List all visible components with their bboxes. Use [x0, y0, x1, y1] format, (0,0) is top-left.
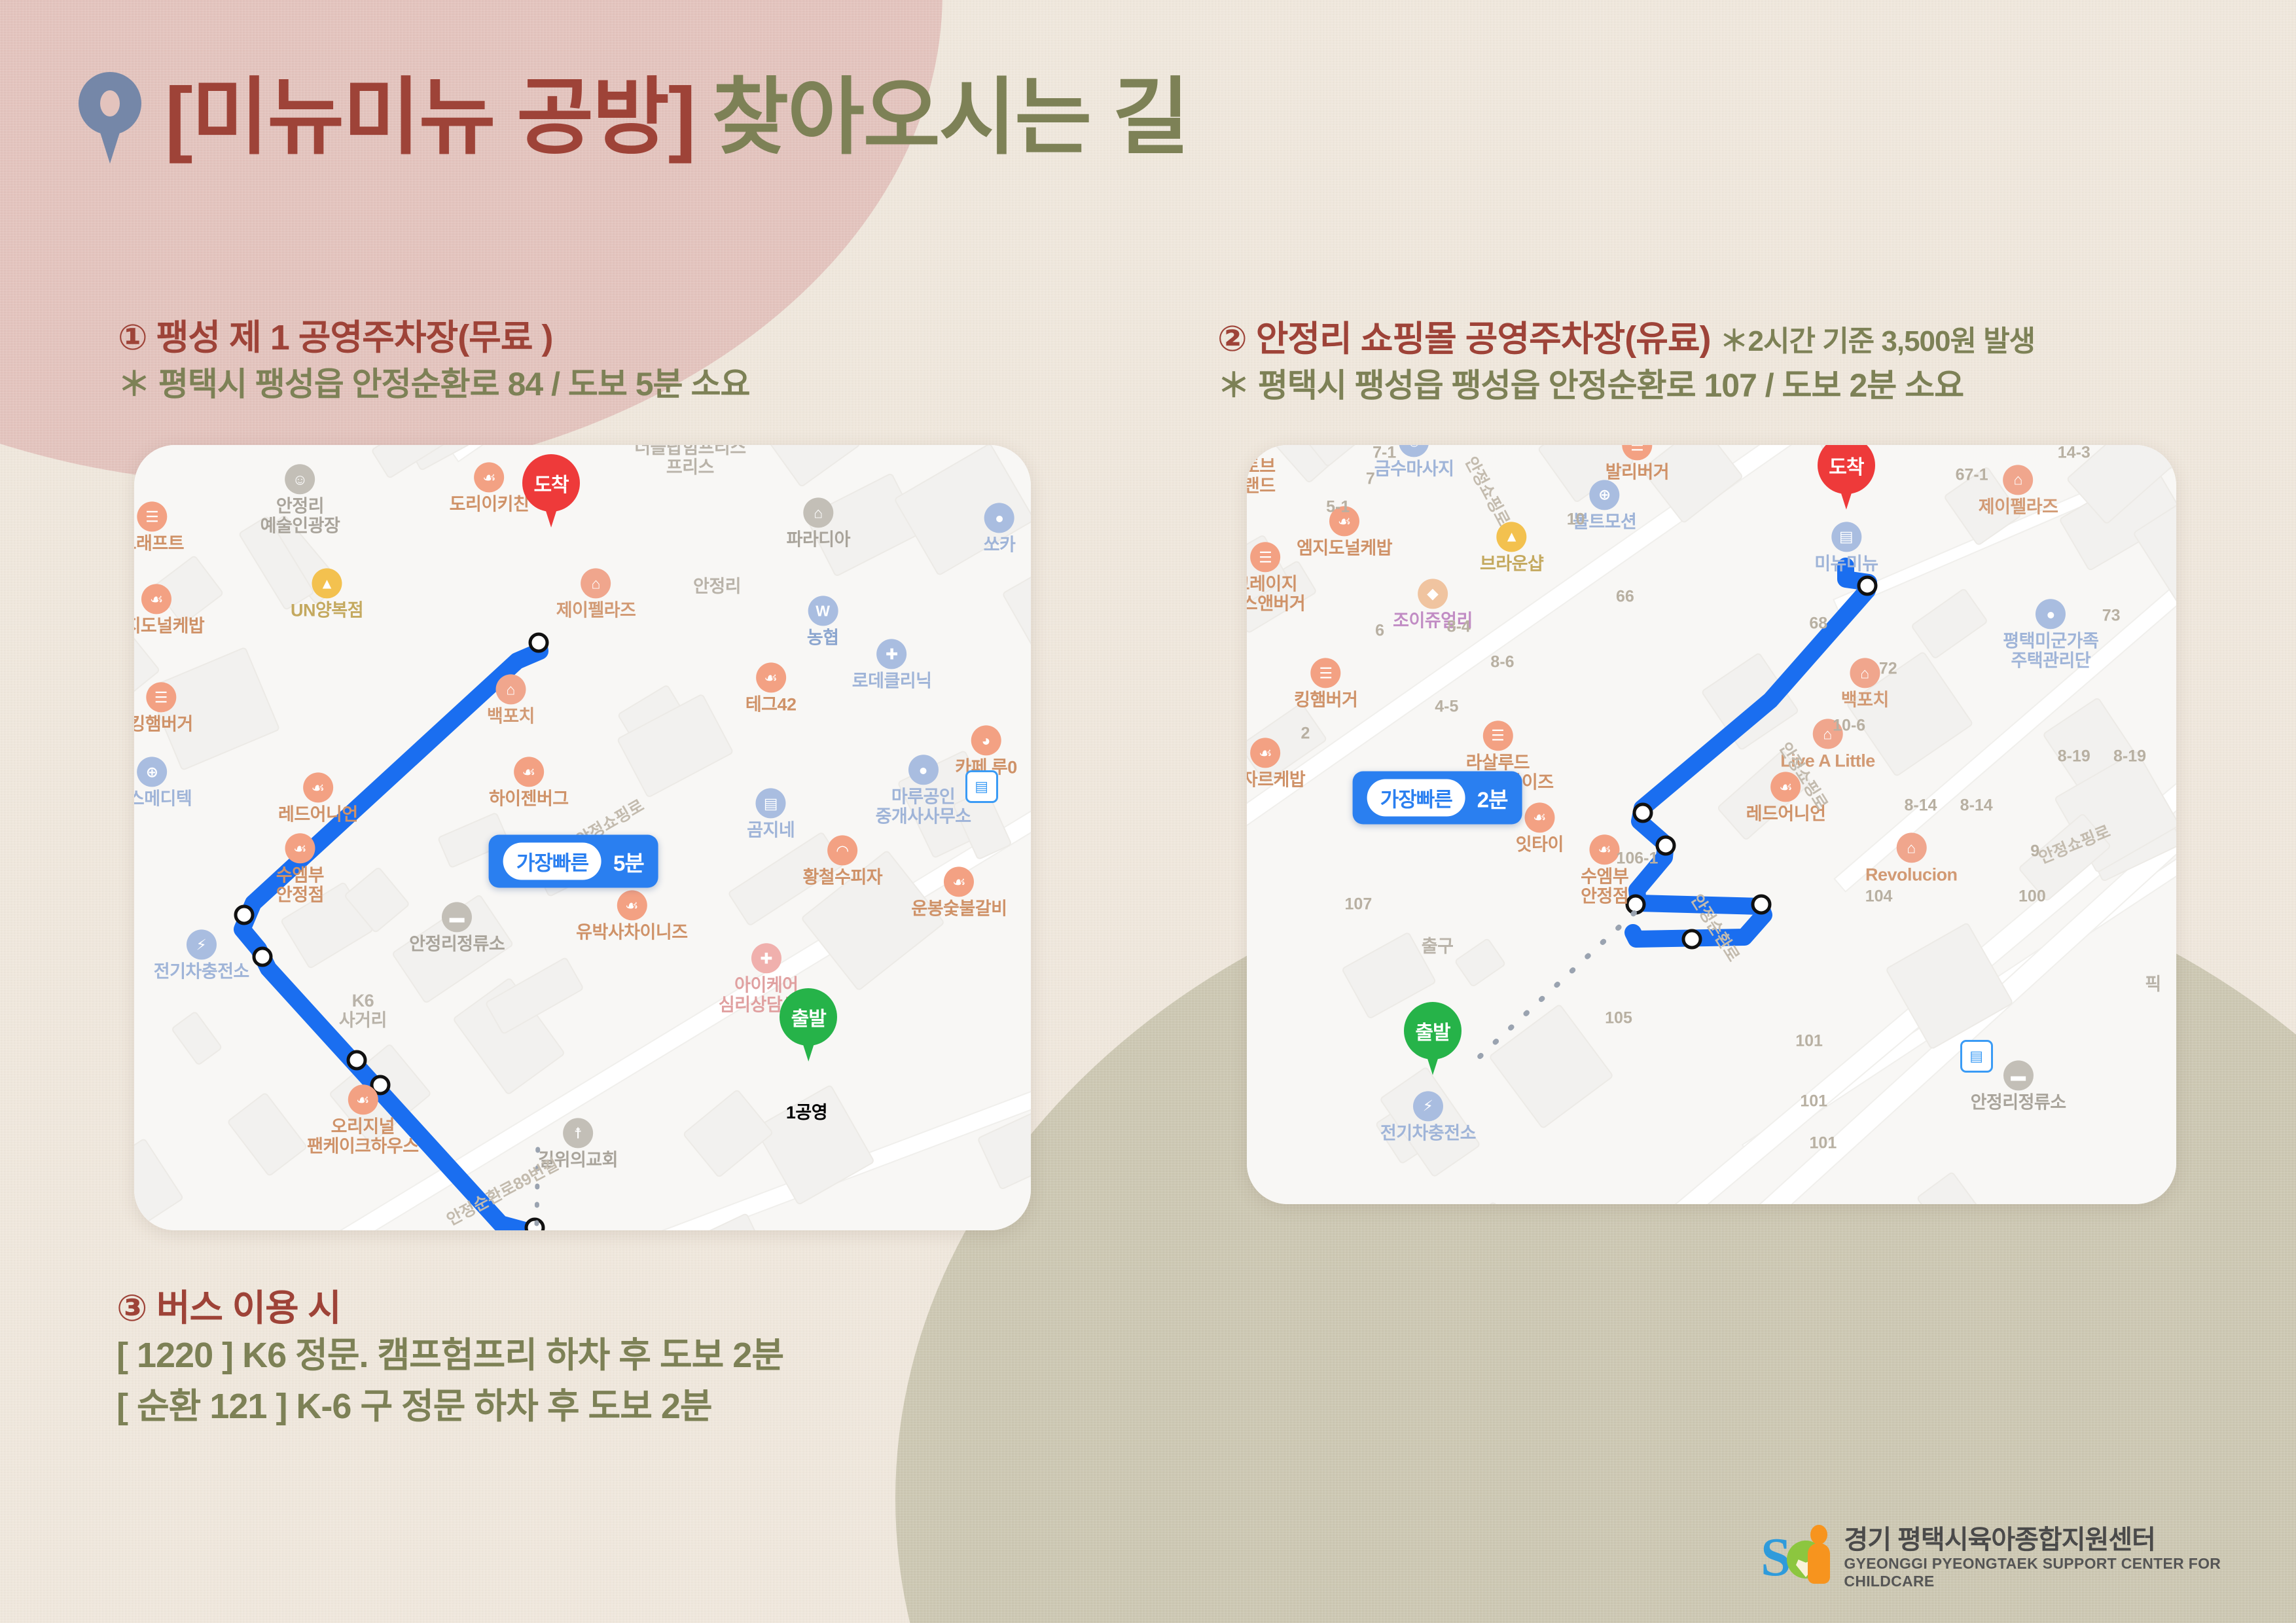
map-poi-label: 크래프트 [134, 533, 184, 553]
map-poi: ☰킹햄버거 [134, 682, 193, 734]
map-pin-label: 도착 [1818, 445, 1875, 494]
parking2-subtitle: ＊ 평택시 팽성읍 팽성읍 안정순환로 107 / 도보 2분 소요 [1217, 365, 2035, 407]
bank-icon: ⌂ [1896, 833, 1926, 863]
parcel-number: 8-14 [1960, 796, 1993, 815]
footer-org-name-kr: 경기 평택시육아종합지원센터 [1844, 1525, 2296, 1555]
bus-route-1220: [ 1220 ] K6 정문. 캠프험프리 하차 후 도보 2분 [117, 1330, 783, 1381]
map-poi: ☺안정리예술인광장 [260, 464, 340, 535]
map-poi: ▤곰지네 [747, 788, 795, 840]
map-poi-label: 엠지도널케밥 [134, 616, 204, 635]
map-poi-label: 안정리예술인광장 [260, 496, 340, 535]
map-surface-right: ☙스토브일랜드☺금수마사지☰발리버거⌂제이펠라즈▤미뉴미뉴☙엠지도널케밥⊕볼트모… [1247, 445, 2176, 1204]
clinic-icon: ✚ [751, 943, 781, 973]
map-poi: P1공영 [786, 1103, 827, 1122]
map-poi-label: 황철수피자 [802, 867, 882, 887]
map-poi-label: 수엠부안정점 [1581, 866, 1628, 906]
parking1-subtitle: ＊ 평택시 팽성읍 안정순환로 84 / 도보 5분 소요 [118, 363, 749, 406]
church-icon: ☨ [563, 1118, 593, 1148]
map-pin-label: 출발 [780, 988, 837, 1046]
map-poi-label: 농협 [807, 628, 839, 647]
map-poi-label: 1공영 [786, 1103, 827, 1122]
parcel-number: 101 [1810, 1134, 1837, 1153]
parcel-number: 10-6 [1833, 717, 1865, 736]
location-pin-icon [79, 72, 141, 164]
departure-pin-icon: 출발 [780, 988, 837, 1061]
jewelry-icon: ◆ [1418, 579, 1448, 609]
fastest-minutes-right: 2분 [1477, 782, 1508, 813]
cutlery-icon: ☙ [285, 833, 315, 863]
map-poi-label: 더블랍힘프리스프리스 [634, 445, 745, 477]
cutlery-icon: ☙ [348, 1084, 378, 1115]
burger-icon: ☰ [1311, 658, 1341, 688]
map-poi: ⌂Revolucion [1865, 833, 1958, 885]
map-poi: K6사거리 [339, 991, 387, 1030]
parking2-fee-note: ＊2시간 기준 3,500원 발생 [1720, 317, 2036, 359]
cutlery-icon: ☙ [1590, 834, 1620, 865]
departure-pin-icon: 출발 [1404, 1002, 1462, 1075]
map-poi-label: 미뉴미뉴 [1814, 554, 1878, 573]
map-poi-label: 백포치 [487, 706, 535, 726]
map-poi-label: 전기차충전소 [1380, 1123, 1476, 1143]
footer-org-name-en: GYEONGGI PYEONGTAEK SUPPORT CENTER FOR C… [1844, 1555, 2296, 1590]
map-poi-label: Revolucion [1865, 865, 1958, 885]
map-poi: ⌂제이펠라즈 [556, 568, 636, 620]
parcel-number: 67-1 [1956, 466, 1988, 485]
bus-stop-icon-left: ▤ [965, 770, 998, 803]
map-poi-label: 레드어니언 [278, 804, 358, 824]
page-header: [미뉴미뉴 공방] 찾아오시는 길 [79, 72, 1189, 164]
ev-icon: ⚡ [187, 929, 217, 959]
parking1-title: ① 팽성 제 1 공영주차장(무료 ) [118, 317, 749, 359]
burger-icon: ☰ [1482, 721, 1513, 751]
map-poi: ▲UN양복점 [291, 568, 363, 620]
cutlery-icon: ☙ [756, 662, 786, 692]
map-poi: ✚로데클리닉 [852, 639, 932, 690]
cutlery-icon: ☙ [1247, 445, 1266, 454]
parcel-number: 8-4 [1447, 618, 1471, 637]
map-poi-label: 도리이키친 [450, 494, 529, 514]
map-poi: W농협 [807, 596, 839, 647]
map-card-parking2[interactable]: ☙스토브일랜드☺금수마사지☰발리버거⌂제이펠라즈▤미뉴미뉴☙엠지도널케밥⊕볼트모… [1247, 445, 2176, 1204]
parcel-number: 6 [1375, 622, 1384, 641]
store-icon: ▤ [756, 788, 786, 818]
car-icon: ● [984, 503, 1014, 533]
map-poi: ☙운봉숯불갈비 [911, 866, 1007, 918]
map-poi: ▲브라운샵 [1480, 522, 1543, 573]
map-poi-label: 나자르케밥 [1247, 770, 1305, 790]
bank-icon: ⌂ [1850, 658, 1880, 688]
map-poi-label: 픽 [2145, 974, 2161, 993]
map-poi: 픽 [2145, 974, 2161, 993]
map-poi-label: K6사거리 [339, 991, 387, 1030]
map-pin-label: 도착 [522, 454, 580, 512]
map-poi: ⌂파라디아 [787, 497, 850, 549]
bus-stop-icon-right: ▤ [1960, 1040, 1993, 1073]
map-poi-label: 평택미군가족주택관리단 [2003, 631, 2098, 670]
map-poi: ☰크레이지윙스앤버거 [1247, 542, 1305, 613]
map-poi-label: 백포치 [1841, 690, 1889, 710]
bank-icon: ⌂ [2003, 465, 2034, 495]
cutlery-icon: ☙ [617, 890, 647, 920]
footer-organization: S 경기 평택시육아종합지원센터 GYEONGGI PYEONGTAEK SUP… [1761, 1525, 2296, 1590]
building-icon: ⌂ [803, 497, 833, 527]
won-icon: W [808, 596, 838, 626]
parcel-number: 2 [1301, 724, 1310, 743]
burger-icon: ☰ [137, 501, 167, 531]
cutlery-icon: ☙ [303, 772, 333, 802]
map-poi: ☙나자르케밥 [1247, 738, 1305, 790]
parking2-title: ② 안정리 쇼핑몰 공영주차장(유료) [1217, 319, 1711, 361]
map-poi: 더블랍힘프리스프리스 [634, 445, 745, 477]
parcel-number: 105 [1605, 1008, 1632, 1027]
parcel-number: 107 [1345, 895, 1372, 914]
map-poi-label: 출구 [1422, 936, 1454, 955]
map-poi: ☰킹햄버거 [1294, 658, 1357, 710]
map-poi-label: 킹햄버거 [134, 714, 193, 734]
map-poi-label: 오리지널팬케이크하우스 [307, 1116, 418, 1156]
map-poi-label: 안정리 [693, 577, 741, 596]
parcel-number: 7-1 [1372, 445, 1396, 462]
map-poi: ⌂제이펠라즈 [1979, 465, 2058, 516]
map-poi: ▬안정리정류소 [409, 902, 505, 954]
map-poi-label: 전기차충전소 [154, 961, 249, 981]
map-poi: ☙잇타이 [1516, 802, 1564, 854]
parcel-number: 8-14 [1904, 796, 1937, 815]
hospital-icon: ⊕ [137, 757, 167, 787]
map-poi: ☙하이젠버그 [489, 757, 569, 808]
bus-icon: ▬ [442, 902, 472, 932]
map-surface-left: ☰크래프트☺안정리예술인광장☙도리이키친더블랍힘프리스프리스⌂파라디아●쏘카☙엠… [134, 445, 1031, 1230]
parcel-number: 8-6 [1490, 652, 1514, 671]
parcel-number: 5-1 [1326, 498, 1350, 517]
cutlery-icon: ☙ [141, 584, 171, 614]
office-icon: ● [2036, 599, 2066, 629]
map-poi: ☙유박사차이니즈 [576, 890, 687, 942]
cutlery-icon: ☙ [514, 757, 544, 787]
map-poi-label: 쏘카 [984, 535, 1016, 555]
map-poi: ☙레드어니언 [278, 772, 358, 824]
map-poi-label: 헥스메디텍 [134, 789, 192, 808]
office-icon: ● [908, 755, 939, 785]
parcel-number: 101 [1795, 1031, 1823, 1050]
map-poi-label: 킹햄버거 [1294, 690, 1357, 710]
parcel-number: 8-19 [2058, 747, 2090, 766]
parcel-number: 72 [1879, 660, 1897, 679]
map-poi-label: 스토브일랜드 [1247, 456, 1276, 495]
burger-icon: ☰ [146, 682, 176, 712]
parcel-number: 68 [1809, 614, 1827, 633]
fastest-route-badge-right: 가장빠른 2분 [1353, 772, 1522, 825]
fastest-route-badge-left: 가장빠른 5분 [489, 835, 658, 888]
fastest-label-left: 가장빠른 [503, 843, 601, 880]
title-workshop-name: [미뉴미뉴 공방] [165, 76, 694, 160]
massage-icon: ☺ [1399, 445, 1429, 457]
map-poi-label: 브라운샵 [1480, 554, 1543, 573]
map-poi-label: 마루공인중개사사무소 [876, 787, 971, 826]
parcel-number: 100 [2018, 887, 2046, 906]
parcel-number: 10 [1567, 510, 1585, 529]
parcel-number: 104 [1865, 887, 1893, 906]
map-poi-label: 테그42 [745, 694, 797, 714]
bus-route-121: [ 순환 121 ] K-6 구 정문 하차 후 도보 2분 [117, 1381, 783, 1432]
fastest-label-right: 가장빠른 [1367, 779, 1465, 817]
cutlery-icon: ☙ [1524, 802, 1554, 832]
shop-icon: ▲ [312, 568, 342, 598]
map-poi: ●평택미군가족주택관리단 [2003, 599, 2098, 670]
map-poi: ☰발리버거 [1605, 445, 1669, 482]
parcel-number: 8-19 [2113, 747, 2146, 766]
map-poi: ☙도리이키친 [450, 462, 529, 514]
map-poi: ⌂백포치 [487, 674, 535, 726]
parking2-heading-block: ② 안정리 쇼핑몰 공영주차장(유료) ＊2시간 기준 3,500원 발생 ＊ … [1217, 317, 2035, 407]
parcel-number: 9 [2030, 842, 2039, 861]
map-poi: ☙스토브일랜드 [1247, 445, 1276, 496]
parcel-number: 4-5 [1435, 698, 1458, 717]
parcel-number: 7 [1366, 470, 1375, 489]
map-poi-label: UN양복점 [291, 600, 363, 620]
cutlery-icon: ☙ [475, 462, 505, 492]
cutlery-icon: ☙ [1250, 738, 1280, 768]
map-poi: ☙테그42 [745, 662, 797, 714]
burger-icon: ☰ [1622, 445, 1652, 461]
map-poi-label: 운봉숯불갈비 [911, 899, 1007, 918]
clinic-icon: ✚ [877, 639, 907, 669]
coffee-icon: ◕ [971, 725, 1001, 755]
map-poi-label: 안정리정류소 [409, 934, 505, 954]
parcel-number: 66 [1616, 588, 1634, 607]
sc-logo-icon: S [1761, 1526, 1829, 1589]
title-directions: 찾아오시는 길 [711, 76, 1188, 160]
map-poi: ☙수엠부안정점 [276, 833, 324, 904]
map-poi-label: 로데클리닉 [852, 671, 932, 690]
map-poi-label: 하이젠버그 [489, 789, 569, 808]
map-poi: ☙오리지널팬케이크하우스 [307, 1084, 418, 1156]
arrival-pin-icon: 도착 [522, 454, 580, 527]
map-poi-label: 제이펠라즈 [556, 600, 636, 620]
fastest-minutes-left: 5분 [613, 846, 644, 877]
map-poi: ☰크래프트 [134, 501, 184, 553]
parcel-number: 101 [1800, 1092, 1827, 1111]
map-poi: ⊕헥스메디텍 [134, 757, 192, 808]
parcel-number: 106-1 [1616, 849, 1658, 868]
map-poi-label: 잇타이 [1516, 834, 1564, 854]
map-poi: ☙수엠부안정점 [1581, 834, 1628, 906]
map-pin-label: 출발 [1404, 1002, 1462, 1060]
map-poi-label: 수엠부안정점 [276, 865, 324, 904]
map-poi: ●쏘카 [984, 503, 1016, 555]
map-poi-label: 곰지네 [747, 820, 795, 840]
plaza-icon: ☺ [285, 464, 315, 494]
cutlery-icon: ☙ [944, 866, 974, 897]
map-poi: 안정리 [693, 577, 741, 596]
bus-icon: ▬ [2003, 1061, 2034, 1091]
store-icon: ▤ [1831, 522, 1861, 552]
ev-icon: ⚡ [1413, 1091, 1443, 1121]
bank-icon: ⌂ [495, 674, 526, 704]
map-poi: ⚡전기차충전소 [1380, 1091, 1476, 1143]
map-poi: ☙엠지도널케밥 [134, 584, 204, 635]
map-poi: ⚡전기차충전소 [154, 929, 249, 981]
footer-organization-text: 경기 평택시육아종합지원센터 GYEONGGI PYEONGTAEK SUPPO… [1844, 1525, 2296, 1590]
map-poi: 출구 [1422, 936, 1454, 955]
arrival-pin-icon: 도착 [1818, 445, 1875, 510]
map-poi: ◠황철수피자 [802, 835, 882, 887]
map-poi-label: 유박사차이니즈 [576, 922, 687, 942]
map-poi: ◕카페 루0 [955, 725, 1017, 777]
bank-icon: ⌂ [581, 568, 611, 598]
bus-info-block: ③ 버스 이용 시 [ 1220 ] K6 정문. 캠프험프리 하차 후 도보 … [117, 1286, 783, 1433]
map-poi-label: 엠지도널케밥 [1297, 539, 1392, 558]
hospital-icon: ⊕ [1590, 480, 1620, 510]
map-poi-label: 제이펠라즈 [1979, 497, 2058, 516]
parcel-number: 14-3 [2058, 445, 2090, 462]
bus-section-title: ③ 버스 이용 시 [117, 1286, 783, 1330]
map-poi-label: 크레이지윙스앤버거 [1247, 574, 1305, 613]
map-card-parking1[interactable]: ☰크래프트☺안정리예술인광장☙도리이키친더블랍힘프리스프리스⌂파라디아●쏘카☙엠… [134, 445, 1031, 1230]
pizza-icon: ◠ [827, 835, 857, 865]
page-title: [미뉴미뉴 공방] 찾아오시는 길 [165, 76, 1189, 160]
map-poi-label: 파라디아 [787, 529, 850, 549]
parcel-number: 73 [2102, 607, 2121, 626]
map-poi: ▤미뉴미뉴 [1814, 522, 1878, 573]
parking1-heading-block: ① 팽성 제 1 공영주차장(무료 ) ＊ 평택시 팽성읍 안정순환로 84 /… [118, 317, 749, 406]
map-poi-label: 안정리정류소 [1971, 1093, 2066, 1113]
burger-icon: ☰ [1250, 542, 1280, 572]
